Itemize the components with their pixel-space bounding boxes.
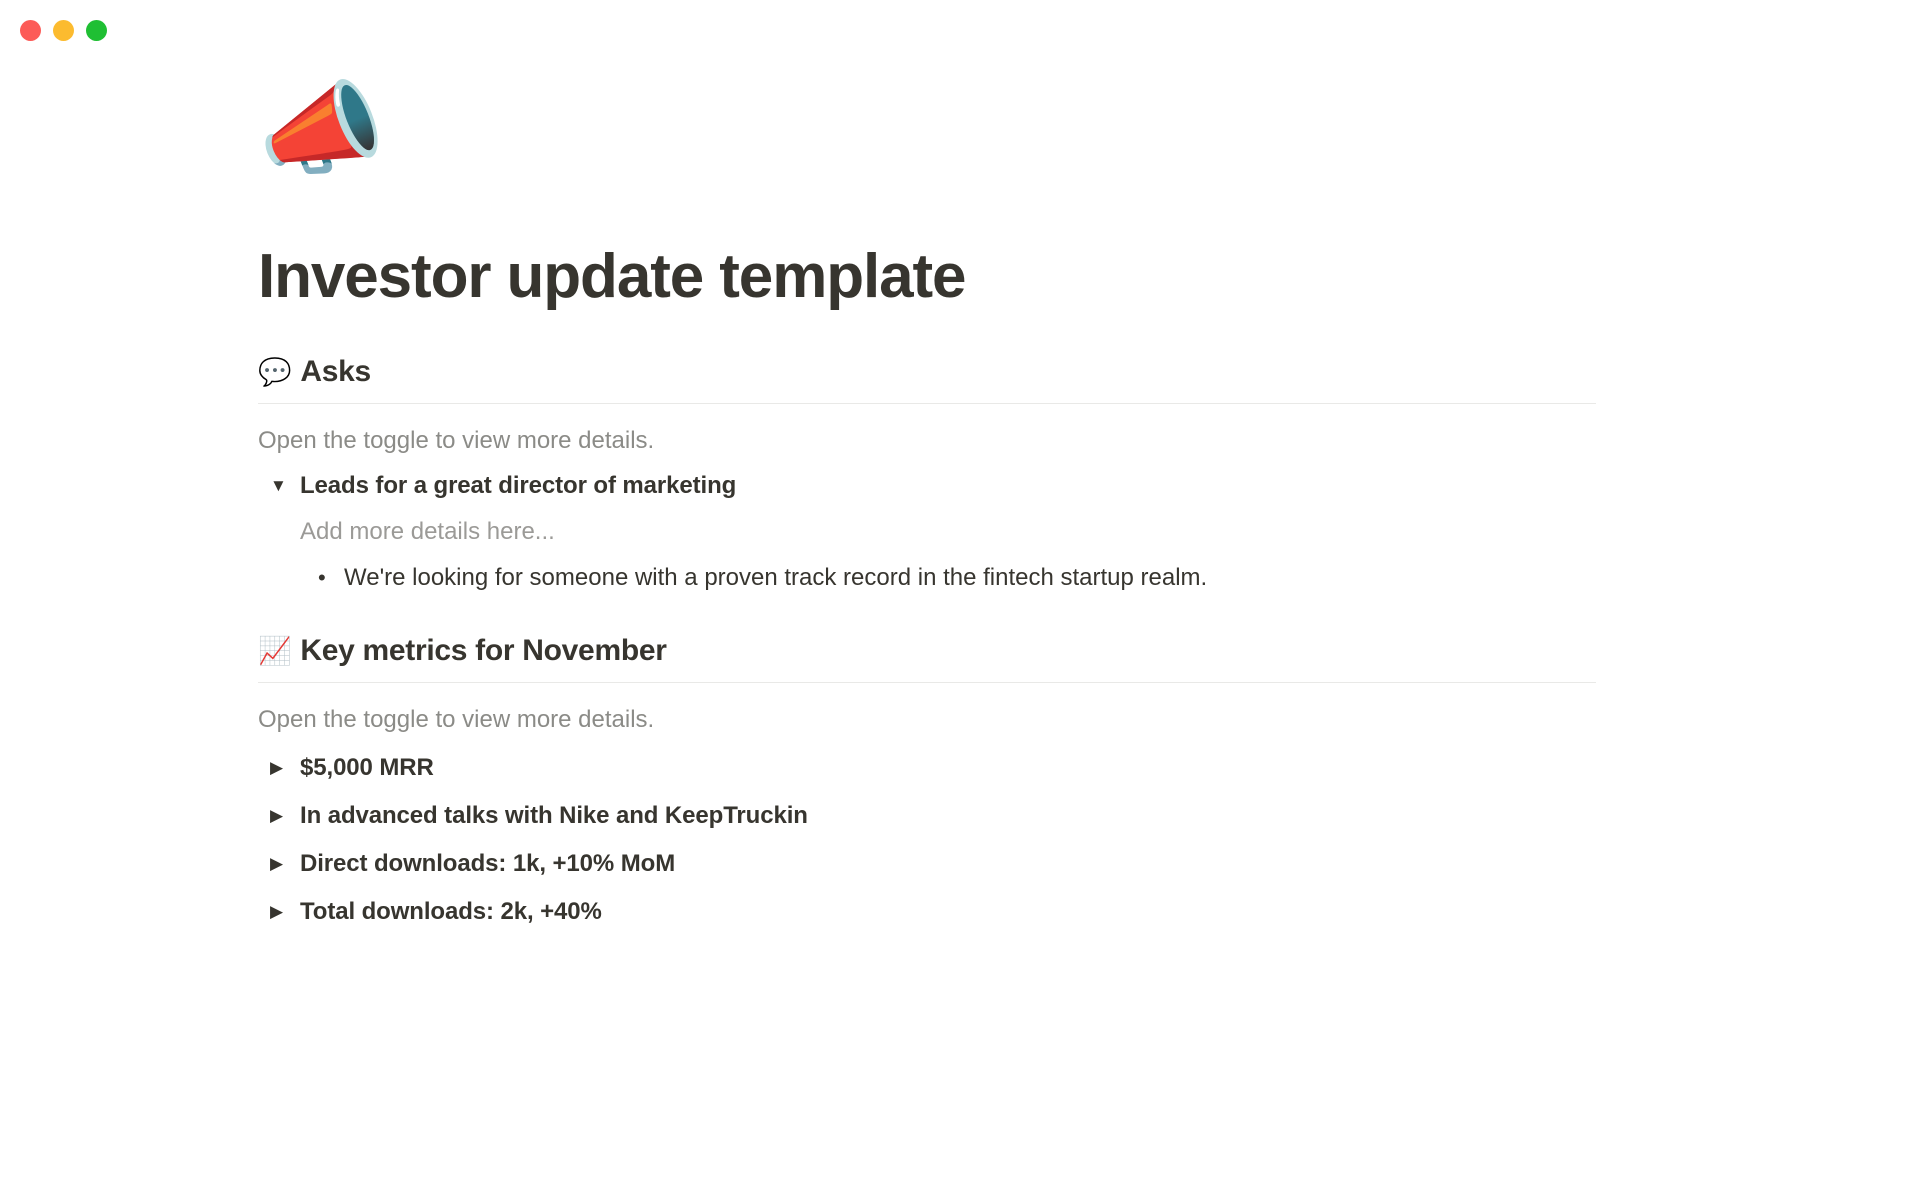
section-heading-asks[interactable]: 💬 Asks	[258, 355, 1598, 403]
toggle-label: In advanced talks with Nike and KeepTruc…	[300, 798, 808, 834]
asks-hint-text: Open the toggle to view more details.	[258, 423, 1598, 459]
section-heading-asks-label: Asks	[300, 355, 371, 389]
chevron-right-icon[interactable]: ▶	[258, 846, 300, 882]
toggle-body: Add more details here... • We're looking…	[258, 514, 1598, 596]
close-window-button[interactable]	[20, 20, 41, 41]
chevron-down-icon[interactable]: ▼	[258, 468, 300, 504]
page-title[interactable]: Investor update template	[258, 242, 1920, 311]
chevron-right-icon[interactable]: ▶	[258, 750, 300, 786]
toggle-header[interactable]: ▼ Leads for a great director of marketin…	[258, 468, 1598, 504]
page-content: 📣 Investor update template 💬 Asks Open t…	[0, 60, 1920, 930]
section-heading-key-metrics-label: Key metrics for November	[300, 634, 666, 668]
toggle-mrr: ▶ $5,000 MRR	[258, 750, 1598, 786]
chevron-right-icon[interactable]: ▶	[258, 894, 300, 930]
minimize-window-button[interactable]	[53, 20, 74, 41]
section-divider	[258, 403, 1596, 404]
toggle-placeholder-text[interactable]: Add more details here...	[300, 514, 1598, 550]
section-heading-key-metrics[interactable]: 📈 Key metrics for November	[258, 634, 1598, 682]
speech-balloon-icon: 💬	[258, 359, 291, 386]
chart-increasing-icon: 📈	[258, 638, 291, 665]
toggle-label: $5,000 MRR	[300, 750, 434, 786]
bullet-list: • We're looking for someone with a prove…	[300, 560, 1598, 596]
toggle-header[interactable]: ▶ Total downloads: 2k, +40%	[258, 894, 1598, 930]
toggle-advanced-talks: ▶ In advanced talks with Nike and KeepTr…	[258, 798, 1598, 834]
traffic-light-controls	[20, 20, 107, 41]
section-divider	[258, 682, 1596, 683]
toggle-header[interactable]: ▶ In advanced talks with Nike and KeepTr…	[258, 798, 1598, 834]
section-asks: 💬 Asks Open the toggle to view more deta…	[258, 355, 1598, 596]
toggle-total-downloads: ▶ Total downloads: 2k, +40%	[258, 894, 1598, 930]
maximize-window-button[interactable]	[86, 20, 107, 41]
app-window: 📣 Investor update template 💬 Asks Open t…	[0, 0, 1920, 1200]
chevron-right-icon[interactable]: ▶	[258, 798, 300, 834]
toggle-leads-director-marketing: ▼ Leads for a great director of marketin…	[258, 468, 1598, 596]
list-item-text: We're looking for someone with a proven …	[344, 560, 1207, 596]
megaphone-emoji[interactable]: 📣	[258, 78, 1920, 198]
toggle-direct-downloads: ▶ Direct downloads: 1k, +10% MoM	[258, 846, 1598, 882]
key-metrics-hint-text: Open the toggle to view more details.	[258, 702, 1598, 738]
toggle-label: Leads for a great director of marketing	[300, 468, 736, 504]
list-item[interactable]: • We're looking for someone with a prove…	[300, 560, 1598, 596]
bullet-point-icon: •	[318, 560, 344, 596]
toggle-label: Direct downloads: 1k, +10% MoM	[300, 846, 675, 882]
section-key-metrics: 📈 Key metrics for November Open the togg…	[258, 634, 1598, 930]
toggle-header[interactable]: ▶ $5,000 MRR	[258, 750, 1598, 786]
toggle-label: Total downloads: 2k, +40%	[300, 894, 602, 930]
toggle-header[interactable]: ▶ Direct downloads: 1k, +10% MoM	[258, 846, 1598, 882]
title-bar	[0, 0, 1920, 60]
